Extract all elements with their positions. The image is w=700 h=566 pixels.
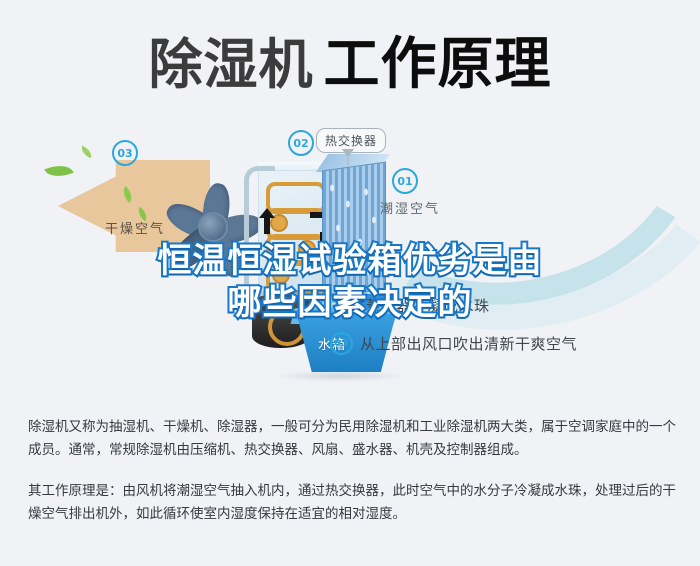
page-title-secondary: 工作原理 — [324, 37, 552, 93]
legend-row: 03 从上部出风口吹出清新干爽空气 — [330, 332, 577, 355]
fan-hub — [198, 212, 228, 242]
body-paragraph-2: 其工作原理是：由风机将潮湿空气抽入机内，通过热交换器，此时空气中的水分子冷凝成水… — [28, 480, 676, 526]
dry-air-label: 干燥空气 — [105, 218, 165, 237]
legend-text: 从上部出风口吹出清新干爽空气 — [360, 333, 577, 354]
legend-badge: 03 — [330, 332, 353, 355]
page-title-primary: 除湿机 — [149, 38, 314, 92]
moist-air-label: 潮湿空气 — [380, 198, 440, 217]
leaf-icon — [44, 160, 73, 183]
badge-03-dry-air: 03 — [112, 140, 138, 166]
badge-02-heat-exchanger: 02 — [288, 130, 314, 156]
legend-row: 02 过蒸发器冷凝成水珠 — [320, 294, 490, 317]
article-body: 除湿机又称为抽湿机、干燥机、除湿器，一般可分为民用除湿机和工业除湿机两大类，属于… — [28, 416, 676, 526]
legend-badge: 02 — [320, 294, 343, 317]
condensation-droplets-icon — [322, 166, 384, 292]
legend-text: 过蒸发器冷凝成水珠 — [350, 295, 490, 316]
dehumidifier-diagram: 干燥空气 — [0, 118, 700, 408]
body-paragraph-1: 除湿机又称为抽湿机、干燥机、除湿器，一般可分为民用除湿机和工业除湿机两大类，属于… — [28, 416, 676, 462]
compressor-cap — [252, 294, 310, 310]
badge-01-moist-air: 01 — [392, 168, 418, 194]
leaf-icon — [79, 146, 94, 159]
page-title: 除湿机 工作原理 — [0, 22, 700, 108]
callout-leader-line — [347, 156, 349, 166]
